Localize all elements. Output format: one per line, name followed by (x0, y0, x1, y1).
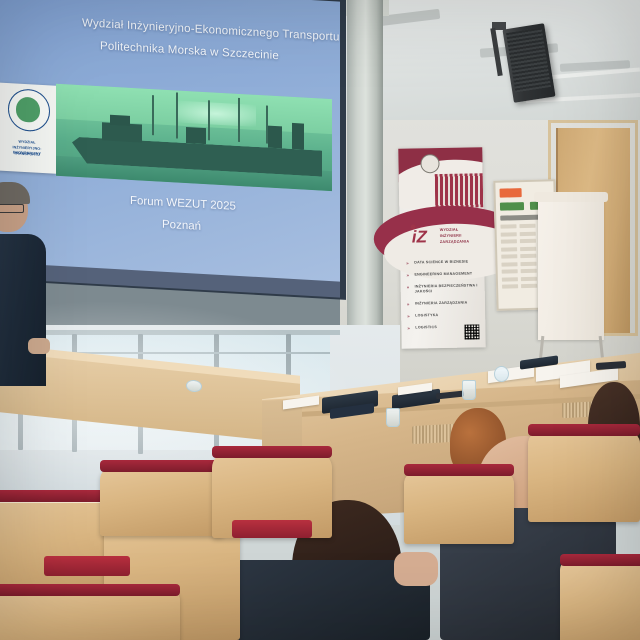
slide-footer-line1: Forum WEZUT 2025 (130, 195, 236, 213)
speaker-grill (506, 28, 551, 93)
banner-header-graphic (398, 147, 483, 208)
slide-title-line1: Wydział Inżynieryjno-Ekonomicznego Trans… (82, 17, 340, 43)
banner-columns-graphic (435, 173, 484, 208)
auditorium-seat[interactable] (560, 560, 640, 640)
banner-list-item: DATA SCIENCE W BIZNESIE (405, 259, 481, 265)
banner-heading-line3: ZARZĄDZANIA (440, 240, 469, 245)
banner-list-item: INŻYNIERIA ZARZĄDZANIA (406, 300, 482, 306)
flipchart-roller (534, 192, 608, 202)
presenter-standing-left (0, 186, 60, 386)
seat-cushion (44, 556, 130, 576)
seal-emblem-icon (16, 97, 40, 123)
harbour-crane (292, 123, 304, 150)
presenter-torso (0, 234, 46, 386)
qr-code-icon (463, 323, 480, 340)
auditorium-seat[interactable] (528, 430, 640, 522)
banner-list-item: INŻYNIERIA BEZPIECZEŃSTWA I JAKOŚCI (406, 283, 482, 294)
banner-heading-line2: INŻYNIERII (440, 234, 462, 238)
ship-mast (238, 98, 240, 142)
seat-red-top (0, 490, 110, 502)
poster-column (519, 224, 537, 292)
slide-ship-photo (56, 84, 332, 191)
ship-mast (152, 95, 154, 135)
photo-highlight (176, 100, 256, 126)
slide-title-line2: Politechnika Morska w Szczecinie (100, 40, 279, 62)
ship-mast (176, 92, 178, 138)
auditorium-seat[interactable] (0, 590, 180, 640)
harbour-crane (268, 126, 282, 149)
slide-footer-line2: Poznań (162, 219, 201, 233)
seat-red-top (0, 584, 180, 596)
poster-column (500, 224, 518, 292)
ship-bridge (110, 115, 130, 126)
auditorium-seat[interactable] (404, 470, 514, 544)
auditorium-seat[interactable] (100, 466, 224, 536)
university-logo-card: WYDZIAŁ INŻYNIERYJNO-EKONOMICZNY TRANSPO… (0, 82, 56, 173)
presenter-hair (0, 182, 30, 204)
rollup-banner: iZ WYDZIAŁ INŻYNIERII ZARZĄDZANIA DATA S… (398, 147, 485, 348)
seat-red-top (560, 554, 640, 566)
drinking-glass[interactable] (494, 366, 509, 382)
seat-red-top (212, 446, 332, 458)
eyeglasses-icon (0, 204, 24, 213)
seat-red-top (100, 460, 224, 472)
ship-mast (208, 100, 210, 140)
banner-list-item: LOGISTYKA (406, 312, 482, 318)
harbour-crane (186, 127, 206, 144)
banner-logo-mark: iZ (412, 226, 436, 248)
drinking-glass[interactable] (462, 380, 476, 400)
banner-list-item: ENGINEERING MANAGEMENT (405, 271, 481, 277)
seat-red-top (528, 424, 640, 436)
presenter-hand (28, 338, 50, 354)
flipchart-easel (538, 198, 604, 340)
conference-room-photo: Wydział Inżynieryjno-Ekonomicznego Trans… (0, 0, 640, 640)
concrete-column (347, 0, 383, 330)
banner-heading-line1: WYDZIAŁ (440, 228, 459, 232)
seat-cushion (232, 520, 312, 538)
poster-section-box (500, 202, 524, 211)
drinking-glass[interactable] (386, 408, 400, 427)
bowl (186, 379, 202, 392)
seat-red-top (404, 464, 514, 476)
attendee-hands (394, 552, 438, 586)
poster-title-box (500, 188, 522, 198)
